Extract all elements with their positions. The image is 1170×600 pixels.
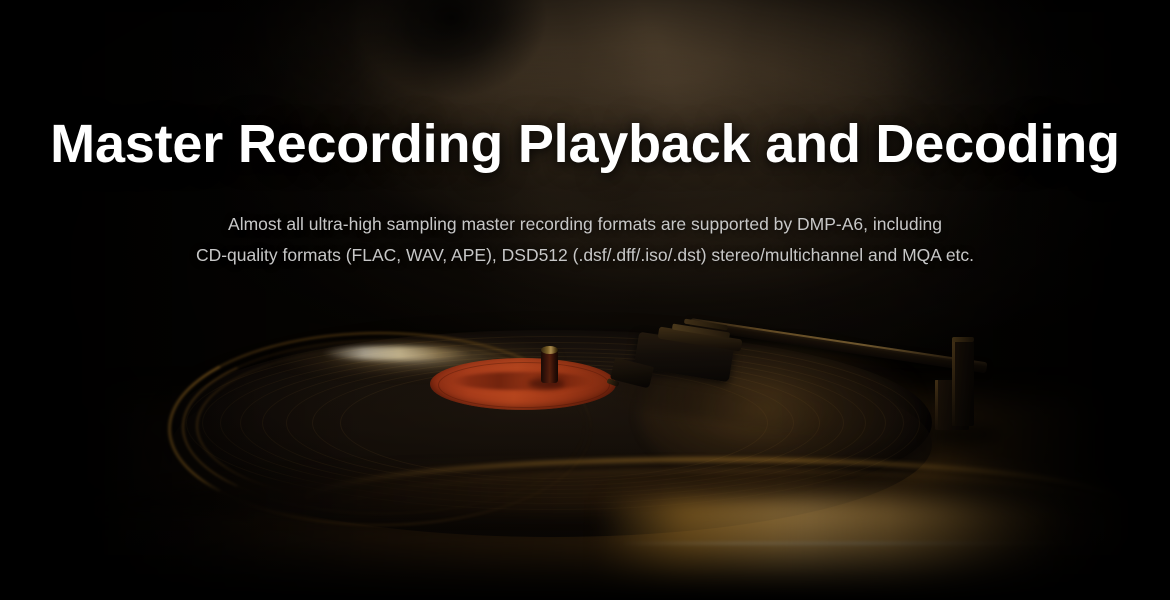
record-specular-hotspot bbox=[322, 346, 472, 360]
plinth-seam-highlight bbox=[620, 542, 1090, 545]
hero-banner: Master Recording Playback and Decoding A… bbox=[0, 0, 1170, 600]
tonearm-rest-cap bbox=[952, 337, 974, 342]
turntable-spindle-cap bbox=[541, 346, 558, 354]
hero-subtitle-line-2: CD-quality formats (FLAC, WAV, APE), DSD… bbox=[0, 240, 1170, 271]
turntable-spindle bbox=[541, 349, 558, 383]
tonearm-rest-post bbox=[952, 340, 974, 426]
page-title: Master Recording Playback and Decoding bbox=[0, 111, 1170, 177]
record-label-script bbox=[452, 372, 592, 390]
tonearm-rest-post-highlight bbox=[952, 340, 955, 426]
tonearm-rest-base-highlight bbox=[935, 380, 938, 430]
hero-subtitle: Almost all ultra-high sampling master re… bbox=[0, 209, 1170, 271]
hero-subtitle-line-1: Almost all ultra-high sampling master re… bbox=[0, 209, 1170, 240]
